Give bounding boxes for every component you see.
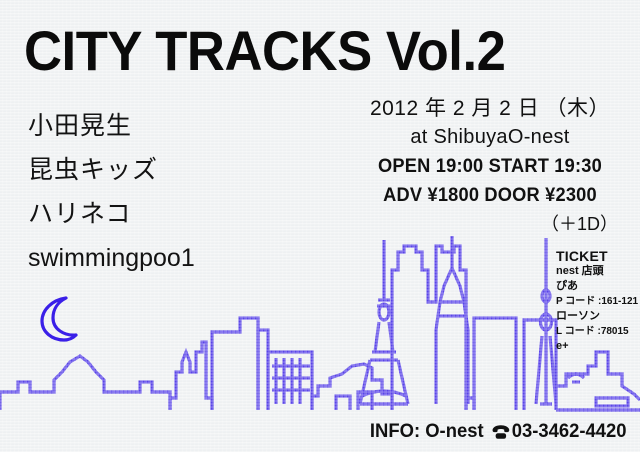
contact-info: INFO: O-nest 03-3462-4420 [369, 420, 626, 444]
list-item: 小田晃生 [28, 104, 328, 148]
page-title: CITY TRACKS Vol.2 [24, 22, 505, 80]
telephone-icon [491, 423, 510, 441]
artist-lineup-list: 小田晃生 昆虫キッズ ハリネコ swimmingpoo1 [28, 104, 328, 280]
ticket-outlet: nest 店頭 [556, 264, 640, 279]
ticket-outlet: ぴあ [556, 279, 640, 294]
event-venue: at ShibuyaO-nest [356, 122, 624, 152]
ticket-outlets: TICKET nest 店頭 ぴあ P コード :161-121 ローソン L … [556, 248, 640, 354]
ticket-outlet: e+ [556, 339, 640, 354]
ticket-code: L コード :78015 [556, 324, 640, 339]
ticket-outlet: ローソン [556, 309, 640, 324]
info-label: INFO: O-nest [369, 420, 483, 444]
event-times: OPEN 19:00 START 19:30 [361, 152, 618, 181]
drink-surcharge-note: （＋1D） [356, 210, 624, 238]
event-date: 2012 年 2 月 2 日 （木） [356, 96, 624, 122]
list-item: 昆虫キッズ [28, 148, 328, 192]
phone-number: 03-3462-4420 [511, 420, 626, 444]
ticket-heading: TICKET [556, 248, 640, 264]
event-prices: ADV ¥1800 DOOR ¥2300 [361, 181, 618, 210]
ticket-code: P コード :161-121 [556, 294, 640, 309]
concert-flyer: CITY TRACKS Vol.2 小田晃生 昆虫キッズ ハリネコ swimmi… [0, 0, 640, 452]
event-details: 2012 年 2 月 2 日 （木） at ShibuyaO-nest OPEN… [356, 96, 624, 238]
list-item: ハリネコ [28, 192, 328, 236]
crescent-moon-icon [30, 294, 84, 344]
list-item: swimmingpoo1 [28, 236, 328, 280]
